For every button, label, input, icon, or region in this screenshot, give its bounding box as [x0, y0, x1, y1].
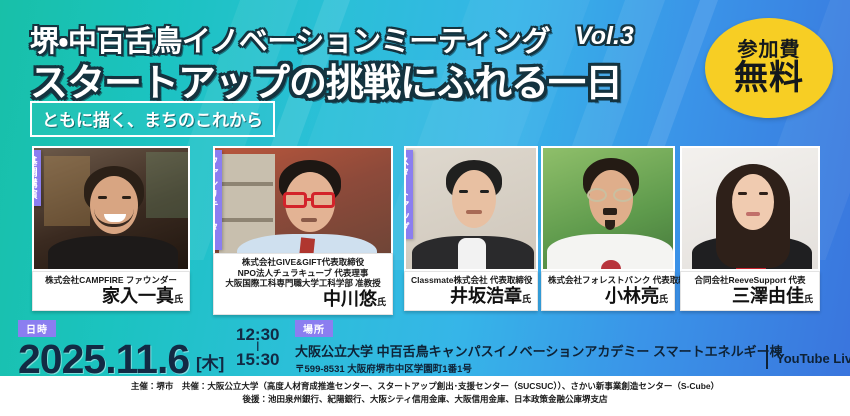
divider — [766, 345, 768, 369]
volume-label: Vol.3 — [575, 22, 634, 51]
speaker-nameplate: 株式会社GIVE&GIFT代表取締役 NPO法人チュラキューブ 代表理事 大阪国… — [213, 253, 393, 315]
speaker-name-suffix: 氏 — [174, 294, 183, 304]
speaker-name: 家入一真氏 — [39, 287, 183, 307]
photo-glasses — [613, 188, 633, 202]
speakers-row: 基調講演 株式会社CAMPFIRE ファウンダー 家入一真氏 — [0, 140, 850, 318]
photo-face — [732, 174, 774, 230]
photo-eye — [480, 190, 489, 193]
photo-goatee — [605, 220, 615, 230]
speaker-nameplate: 株式会社CAMPFIRE ファウンダー 家入一真氏 — [32, 271, 190, 311]
speaker-affiliation: 株式会社GIVE&GIFT代表取締役 — [220, 257, 386, 268]
photo-body — [48, 236, 178, 271]
speaker-affiliation: 株式会社CAMPFIRE ファウンダー — [39, 275, 183, 286]
speaker-name-text: 家入一真 — [102, 286, 174, 306]
date-block: 日時 2025.11.6 — [18, 320, 189, 379]
speaker-photo: 基調講演 — [32, 146, 190, 271]
photo-glasses-bridge — [307, 198, 311, 201]
speaker-name-suffix: 氏 — [377, 297, 386, 307]
event-subtitle: ともに描く、まちのこれから — [42, 111, 263, 130]
speaker-photo: スタートアップ — [404, 146, 538, 271]
footer-supporters: 後援：池田泉州銀行、紀陽銀行、大阪シティ信用金庫、大阪信用金庫、日本政策金融公庫… — [0, 393, 850, 406]
photo-eye — [459, 190, 468, 193]
speaker-affiliation: Classmate株式会社 代表取締役 — [411, 275, 531, 286]
speaker-category-tab: 基調講演 — [32, 150, 41, 206]
speaker-card[interactable]: 基調講演 株式会社CAMPFIRE ファウンダー 家入一真氏 — [32, 146, 190, 311]
flyer-header: 堺・中百舌鳥イノベーションミーティング Vol.3 スタートアップの挑戦にふれる… — [0, 0, 850, 140]
photo-shelf-line — [221, 218, 273, 222]
photo-glasses — [587, 188, 607, 202]
speaker-name-suffix: 氏 — [659, 294, 668, 304]
photo-mustache — [603, 208, 617, 215]
speaker-name-suffix: 氏 — [804, 294, 813, 304]
stream-label: YouTube Live — [776, 351, 850, 366]
photo-shirt — [458, 238, 486, 271]
flyer-footer: 主催：堺市 共催：大阪公立大学（高度人材育成推進センター、スタートアップ創出･支… — [0, 376, 850, 416]
speaker-card[interactable]: スタートアップ Classmate株式会社 代表取締役 井坂浩章氏 — [404, 146, 538, 311]
speaker-category-tab: スタートアップ — [404, 150, 413, 239]
free-admission-badge: 参加費 無料 — [705, 18, 833, 118]
event-date: 2025.11.6 — [18, 340, 189, 379]
speaker-affiliation: 大阪国際工科専門職大学工科学部 准教授 — [220, 278, 386, 289]
photo-mouth — [746, 212, 760, 216]
photo-face — [452, 170, 496, 228]
badge-fee-label: 参加費 — [738, 40, 801, 61]
event-info-bar: 日時 2025.11.6 [木] 12:30 | 15:30 場所 大阪公立大学… — [0, 318, 850, 376]
speaker-nameplate: Classmate株式会社 代表取締役 井坂浩章氏 — [404, 271, 538, 311]
venue-address: 〒599-8531 大阪府堺市中区学園町1番1号 — [295, 361, 783, 375]
speaker-name-text: 中川悠 — [323, 289, 377, 309]
speaker-card[interactable]: ファシリテーター 株式会社GIVE&GIFT代表取締役 NPO法人チュラキューブ… — [213, 146, 393, 315]
speaker-name: 三澤由佳氏 — [687, 287, 813, 307]
speaker-name: 中川悠氏 — [220, 290, 386, 310]
event-flyer: 堺・中百舌鳥イノベーションミーティング Vol.3 スタートアップの挑戦にふれる… — [0, 0, 850, 416]
speaker-affiliation: NPO法人チュラキューブ 代表理事 — [220, 268, 386, 279]
photo-glasses — [283, 192, 307, 208]
photo-detail — [146, 152, 190, 218]
speaker-affiliation: 合同会社ReeveSupport 代表 — [687, 275, 813, 286]
speaker-name-text: 三澤由佳 — [732, 286, 804, 306]
photo-mouth — [466, 210, 482, 214]
venue-block: 場所 大阪公立大学 中百舌鳥キャンパスイノベーションアカデミー スマートエネルギ… — [295, 320, 783, 375]
speaker-nameplate: 株式会社フォレストバンク 代表取締役 小林亮氏 — [541, 271, 675, 311]
event-time-end: 15:30 — [236, 351, 279, 368]
datetime-tag: 日時 — [18, 320, 56, 337]
speaker-name-text: 小林亮 — [605, 286, 659, 306]
footer-organizers: 主催：堺市 共催：大阪公立大学（高度人材育成推進センター、スタートアップ創出･支… — [0, 380, 850, 393]
photo-eye — [738, 192, 747, 195]
speaker-name: 小林亮氏 — [548, 287, 668, 307]
badge-free-label: 無料 — [734, 61, 804, 97]
photo-shelf-line — [221, 182, 273, 186]
event-subtitle-box: ともに描く、まちのこれから — [30, 101, 275, 137]
speaker-nameplate: 合同会社ReeveSupport 代表 三澤由佳氏 — [680, 271, 820, 311]
photo-eye — [122, 196, 131, 199]
event-time-block: 12:30 | 15:30 — [236, 326, 279, 368]
photo-accent — [601, 260, 621, 271]
venue-tag: 場所 — [295, 320, 333, 337]
event-title-line2: スタートアップの挑戦にふれる一日 — [30, 52, 622, 107]
speaker-category-tab: ファシリテーター — [213, 150, 222, 250]
speaker-card[interactable]: 株式会社フォレストバンク 代表取締役 小林亮氏 — [541, 146, 675, 311]
photo-mouth — [301, 218, 317, 222]
photo-eye — [759, 192, 768, 195]
speaker-card[interactable]: 合同会社ReeveSupport 代表 三澤由佳氏 — [680, 146, 820, 311]
speaker-photo — [680, 146, 820, 271]
photo-eye — [98, 196, 107, 199]
speaker-name-suffix: 氏 — [522, 294, 531, 304]
speaker-photo — [541, 146, 675, 271]
speaker-name: 井坂浩章氏 — [411, 287, 531, 307]
venue-name: 大阪公立大学 中百舌鳥キャンパスイノベーションアカデミー スマートエネルギー棟 — [295, 341, 783, 360]
event-day-of-week: [木] — [196, 349, 224, 374]
photo-glasses — [311, 192, 335, 208]
speaker-name-text: 井坂浩章 — [450, 286, 522, 306]
speaker-affiliation: 株式会社フォレストバンク 代表取締役 — [548, 275, 668, 286]
